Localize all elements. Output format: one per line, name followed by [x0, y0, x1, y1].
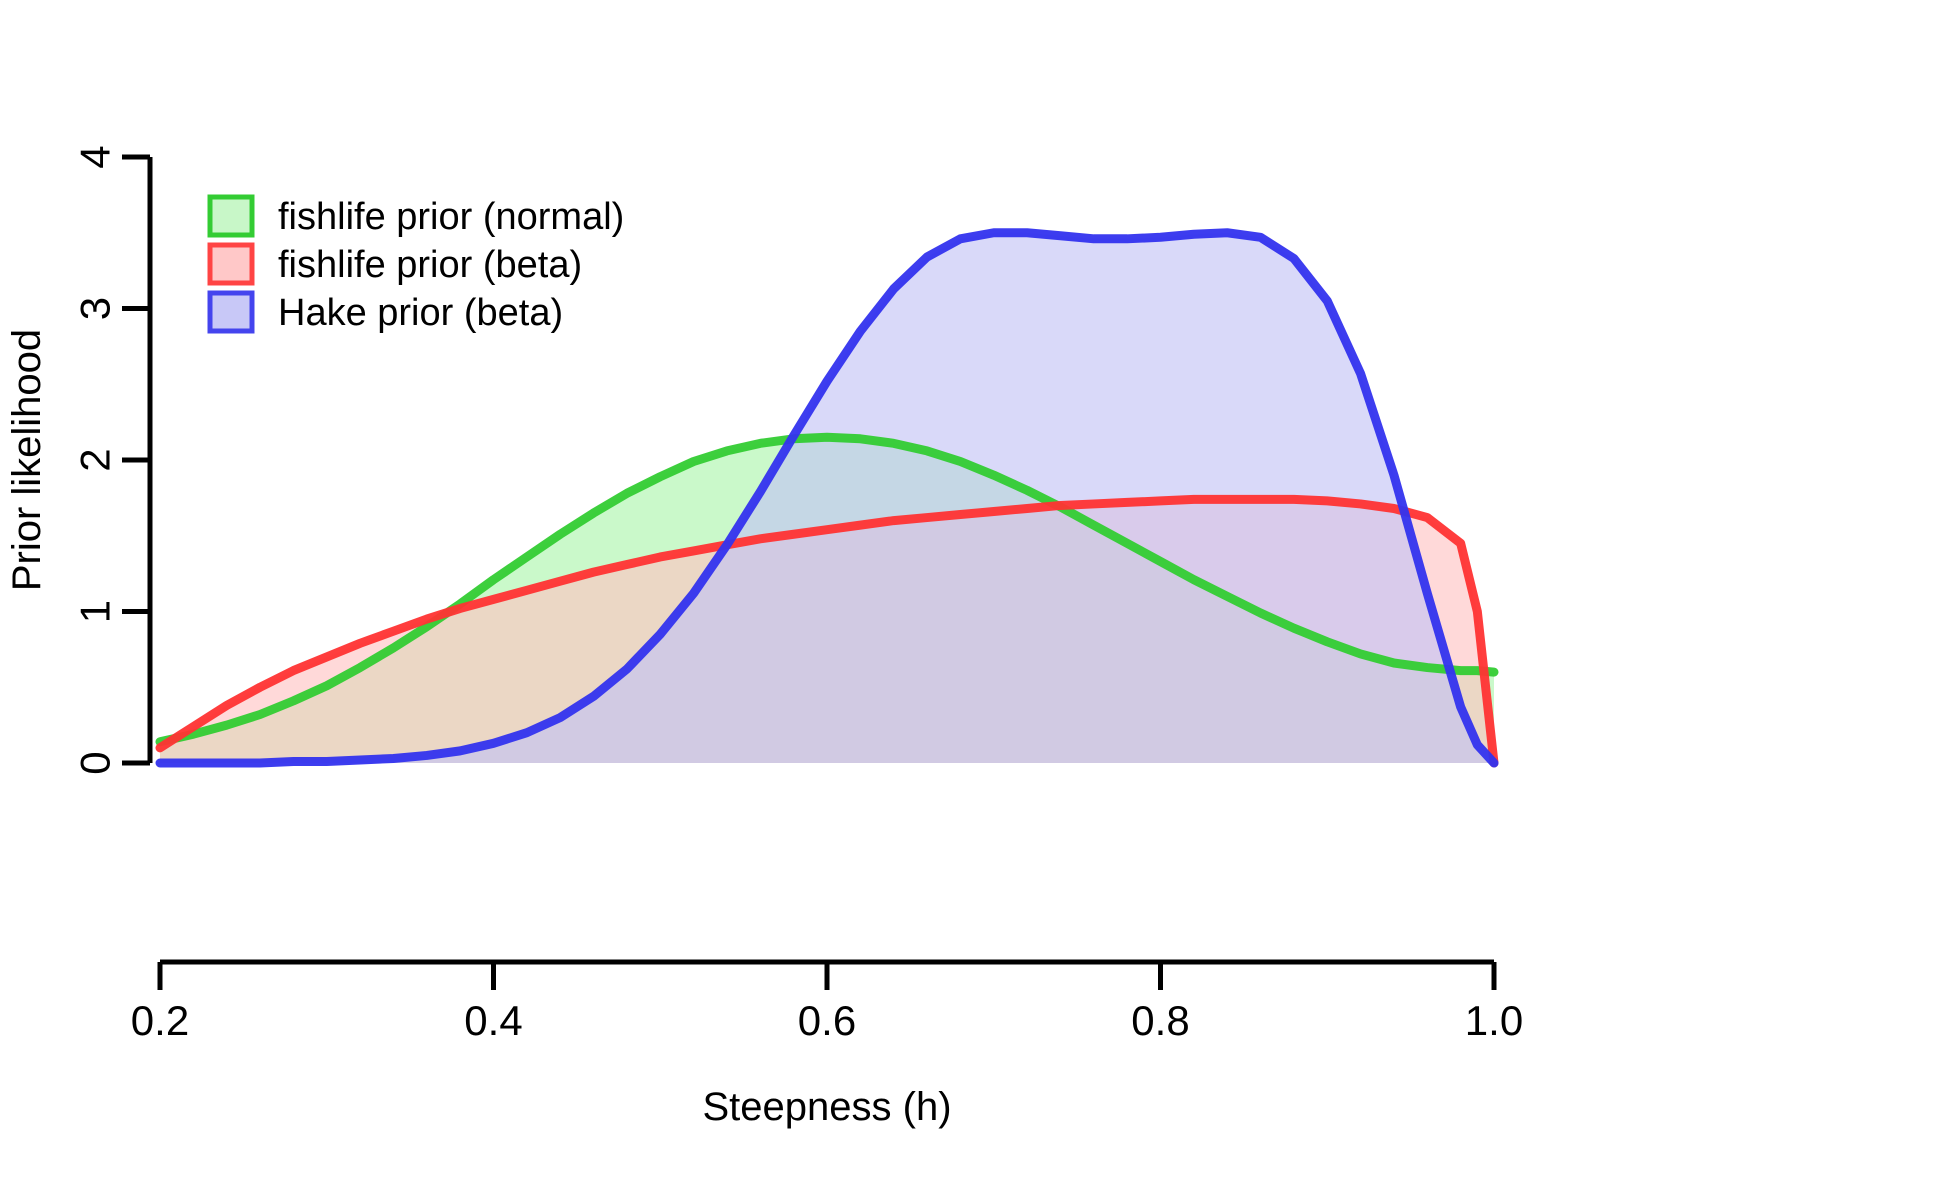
x-tick-label-0: 0.2 [131, 997, 189, 1044]
legend-label-1: fishlife prior (beta) [278, 244, 582, 286]
x-tick-label-3: 0.8 [1131, 997, 1189, 1044]
legend-swatch-2 [210, 293, 252, 331]
legend-label-2: Hake prior (beta) [278, 292, 563, 334]
y-axis-title: Prior likelihood [5, 329, 49, 591]
legend-swatch-1 [210, 245, 252, 283]
y-tick-label-2: 2 [72, 448, 119, 471]
y-tick-label-3: 3 [72, 297, 119, 320]
x-tick-label-1: 0.4 [464, 997, 522, 1044]
x-tick-label-2: 0.6 [798, 997, 856, 1044]
y-tick-label-4: 4 [72, 145, 119, 168]
chart-legend: fishlife prior (normal)fishlife prior (b… [188, 183, 748, 334]
legend-swatch-0 [210, 197, 252, 235]
x-tick-label-4: 1.0 [1465, 997, 1523, 1044]
prior-likelihood-chart: 01234 0.20.40.60.81.0 Prior likelihood S… [0, 0, 1950, 1200]
chart-canvas: 01234 0.20.40.60.81.0 Prior likelihood S… [0, 0, 1950, 1200]
y-tick-label-1: 1 [72, 600, 119, 623]
y-tick-label-0: 0 [72, 751, 119, 774]
x-axis-title: Steepness (h) [702, 1085, 951, 1129]
legend-label-0: fishlife prior (normal) [278, 196, 624, 238]
